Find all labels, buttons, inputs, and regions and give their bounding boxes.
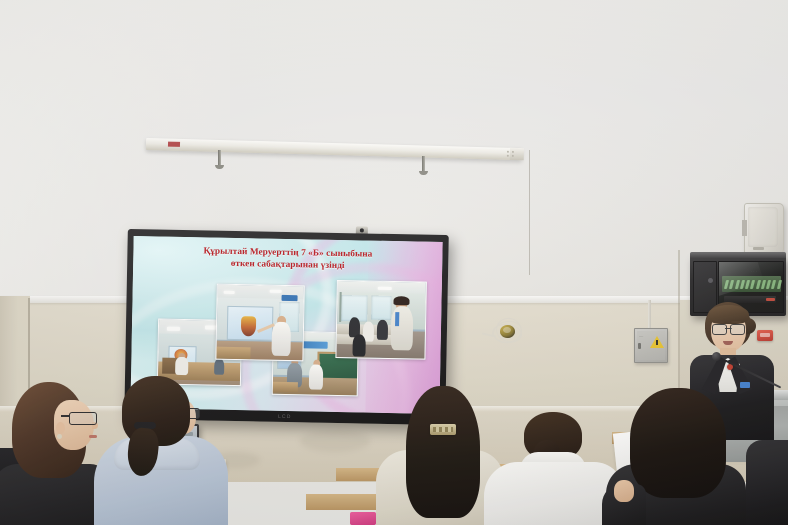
- presenter-eyebrow: [714, 321, 724, 323]
- display-brand-label: LCD: [278, 414, 292, 420]
- rail-screw-dots: [507, 151, 516, 157]
- speaker-badge: [753, 247, 764, 250]
- rail-hook: [422, 156, 425, 173]
- presenter-eyebrow: [731, 321, 741, 323]
- audience-person-b: [80, 376, 228, 525]
- slide-photo-2: [215, 284, 304, 362]
- brand-logo-icon: [168, 142, 180, 147]
- person-hair: [630, 388, 726, 498]
- audience-person-e: [596, 388, 746, 525]
- wall-speaker: [744, 203, 784, 255]
- speaker-bracket: [742, 220, 747, 236]
- person-hair: [406, 386, 480, 518]
- glasses-icon: [712, 324, 745, 333]
- cable-coil: [492, 318, 522, 344]
- person-hand: [614, 480, 634, 502]
- earring-icon: [57, 434, 62, 439]
- cabinet-top: [690, 252, 786, 258]
- electrical-conduit: [648, 300, 651, 330]
- microphone-icon: [712, 352, 721, 361]
- slide-photo-4: [335, 280, 426, 360]
- electrical-panel[interactable]: ___: [634, 328, 668, 363]
- person-torso: [746, 440, 788, 525]
- warning-triangle-icon: [650, 336, 664, 348]
- hair-clip-icon: [430, 424, 456, 435]
- rail-hook: [218, 150, 221, 167]
- cable-coil-core: [500, 325, 515, 338]
- classroom-photograph: . . . ___ LCD: [0, 0, 788, 525]
- wall-smudge: [300, 430, 370, 452]
- screen-pull-cord: [529, 150, 530, 275]
- panel-latch[interactable]: [638, 343, 641, 349]
- person-ear: [56, 422, 65, 434]
- pink-object[interactable]: [350, 512, 376, 525]
- audience-person-f: [746, 440, 788, 525]
- electrical-panel-text: ___: [639, 334, 643, 337]
